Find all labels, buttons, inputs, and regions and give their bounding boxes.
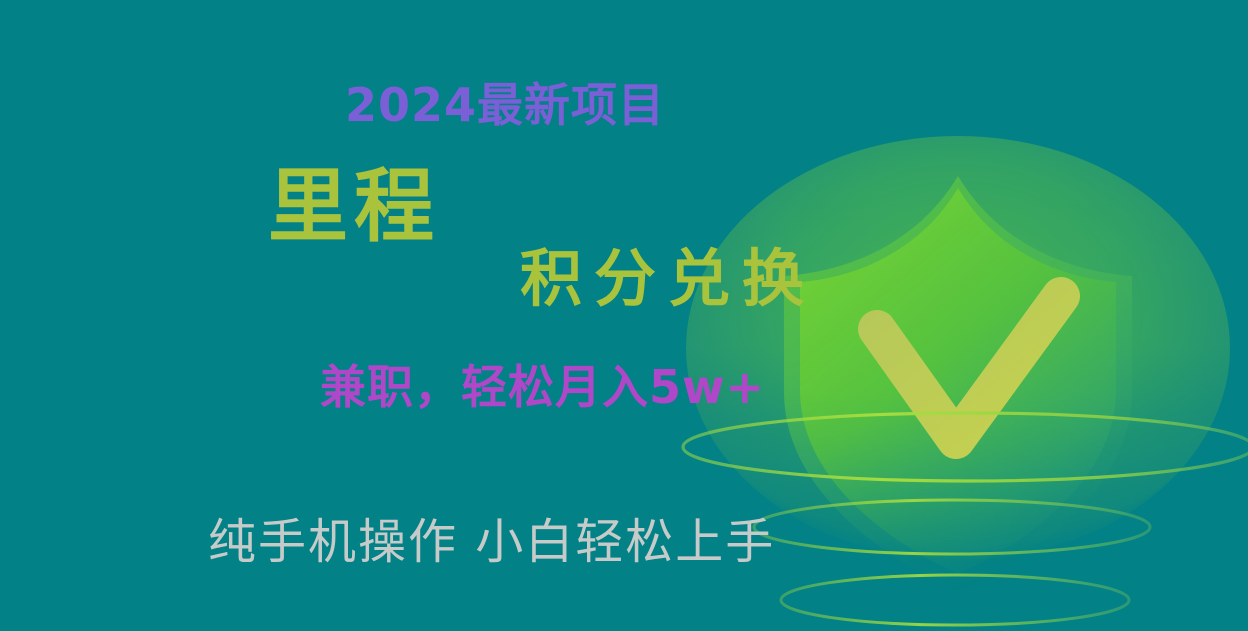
poster-canvas: 2024最新项目 里程 积分兑换 兼职，轻松月入5w+ 纯手机操作 小白轻松上手 <box>0 0 1248 631</box>
subtitle-text: 积分兑换 <box>520 248 816 310</box>
poster-text-layer: 2024最新项目 里程 积分兑换 兼职，轻松月入5w+ 纯手机操作 小白轻松上手 <box>0 0 1248 631</box>
brand-title-text: 里程 <box>268 166 440 246</box>
footer-tagline-text: 纯手机操作 小白轻松上手 <box>208 518 775 566</box>
headline-text: 2024最新项目 <box>345 82 665 128</box>
income-claim-text: 兼职，轻松月入5w+ <box>320 364 765 410</box>
